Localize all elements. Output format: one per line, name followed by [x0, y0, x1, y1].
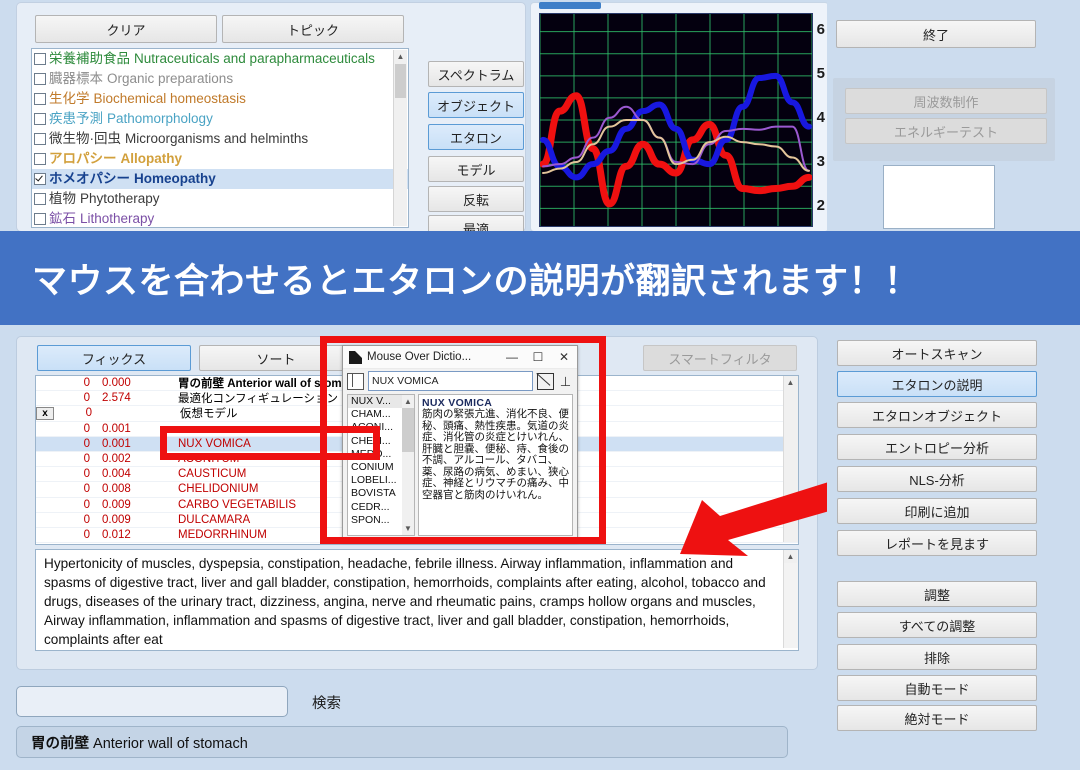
row-value: 0.001: [102, 423, 178, 435]
top-right-panel: 終了 周波数制作 エネルギーテスト: [827, 0, 1080, 232]
object-button[interactable]: オブジェクト: [428, 92, 524, 118]
dictionary-search-input[interactable]: NUX VOMICA: [368, 371, 533, 391]
description-scroll-up-icon[interactable]: ▲: [784, 550, 797, 563]
row-index: 0: [52, 468, 102, 480]
adjust-all-button[interactable]: すべての調整: [837, 612, 1037, 638]
row-value: 0.009: [102, 499, 178, 511]
dict-scroll-up-icon[interactable]: ▲: [402, 395, 414, 408]
clear-button[interactable]: クリア: [35, 15, 217, 43]
sort-button[interactable]: ソート: [199, 345, 353, 371]
description-text: Hypertonicity of muscles, dyspepsia, con…: [44, 554, 772, 649]
energy-test-button[interactable]: エネルギーテスト: [845, 118, 1047, 144]
exclude-button[interactable]: 排除: [837, 644, 1037, 670]
category-label-jp: 臓器標本: [49, 69, 103, 89]
category-item-4[interactable]: 微生物·回虫Microorganisms and helminths: [32, 129, 408, 149]
category-label-jp: 栄養補助食品: [49, 49, 130, 69]
invert-button[interactable]: 反転: [428, 186, 524, 212]
description-box[interactable]: Hypertonicity of muscles, dyspepsia, con…: [35, 549, 799, 651]
chart-svg: [540, 14, 812, 226]
search-label: 検索: [312, 692, 341, 713]
category-label-jp: 鉱石: [49, 209, 76, 228]
table-row[interactable]: 00.014BOVISTA: [36, 543, 798, 545]
maximize-icon[interactable]: ☐: [525, 347, 551, 368]
disabled-tools-group: 周波数制作 エネルギーテスト: [833, 78, 1055, 161]
smart-filter-button[interactable]: スマートフィルタ: [643, 345, 797, 371]
category-checkbox[interactable]: [34, 213, 46, 225]
row-marker[interactable]: x: [36, 407, 54, 420]
model-button[interactable]: モデル: [428, 156, 524, 182]
absolute-mode-button[interactable]: 絶対モード: [837, 705, 1037, 731]
category-label-jp: 微生物·回虫: [49, 129, 121, 149]
search-input[interactable]: [16, 686, 288, 717]
category-label-jp: アロパシー: [49, 149, 117, 169]
chart-ytick-4: 4: [809, 109, 825, 126]
spectrum-chart-panel: 23456: [530, 2, 829, 232]
row-index: 0: [52, 499, 102, 511]
category-label-en: Homeopathy: [134, 169, 216, 189]
split-view-icon[interactable]: [347, 373, 364, 390]
no-flag-icon[interactable]: [537, 373, 554, 390]
grid-scroll-up-icon[interactable]: ▲: [784, 376, 797, 389]
pin-icon[interactable]: ⊥: [558, 374, 573, 389]
row-index: 0: [52, 544, 102, 545]
category-item-1[interactable]: 臓器標本Organic preparations: [32, 69, 408, 89]
category-checkbox[interactable]: [34, 173, 46, 185]
row-value: 0.014: [102, 544, 178, 545]
category-label-jp: 疾患予測: [49, 109, 103, 129]
scroll-thumb[interactable]: [395, 64, 406, 98]
entropy-analysis-button[interactable]: エントロピー分析: [837, 434, 1037, 460]
category-checkbox[interactable]: [34, 73, 46, 85]
row-name: BOVISTA: [178, 544, 798, 545]
close-icon[interactable]: ✕: [551, 347, 577, 368]
status-bar-text: 胃の前壁 Anterior wall of stomach: [17, 732, 248, 753]
dictionary-toolbar: NUX VOMICA ⊥: [343, 369, 577, 393]
row-index: 0: [52, 514, 102, 526]
category-item-2[interactable]: 生化学Biochemical homeostasis: [32, 89, 408, 109]
dict-scroll-thumb[interactable]: [402, 408, 414, 452]
category-label-jp: 植物: [49, 189, 76, 209]
status-en: Anterior wall of stomach: [93, 736, 248, 752]
chart-ytick-2: 2: [809, 197, 825, 214]
category-label-en: Lithotherapy: [80, 209, 154, 228]
row-value: 0.001: [102, 438, 178, 450]
row-value: 0.004: [102, 468, 178, 480]
category-item-8[interactable]: 鉱石Lithotherapy: [32, 209, 408, 228]
definition-text: 筋肉の緊張亢進、消化不良、便秘、頭痛、熱性疾患。気道の炎症、消化管の炎症とけいれ…: [422, 409, 569, 501]
minimize-icon[interactable]: —: [499, 347, 525, 368]
row-value: 0.012: [102, 529, 178, 541]
category-label-en: Nutraceuticals and parapharmaceuticals: [134, 49, 375, 69]
row-value: 0.009: [102, 514, 178, 526]
fix-button[interactable]: フィックス: [37, 345, 191, 371]
nls-analysis-button[interactable]: NLS-分析: [837, 466, 1037, 492]
etalon-button[interactable]: エタロン: [428, 124, 524, 150]
auto-scan-button[interactable]: オートスキャン: [837, 340, 1037, 366]
status-jp: 胃の前壁: [31, 736, 89, 752]
dictionary-term-list[interactable]: NUX V...CHAM...ACONI...CHELI...MEDO...CO…: [347, 394, 415, 536]
dictionary-title-text: Mouse Over Dictio...: [367, 351, 499, 363]
auto-mode-button[interactable]: 自動モード: [837, 675, 1037, 701]
dictionary-app-icon: [349, 351, 362, 364]
preview-box: [883, 165, 995, 229]
category-item-0[interactable]: 栄養補助食品Nutraceuticals and parapharmaceuti…: [32, 49, 408, 69]
row-index: 0: [52, 483, 102, 495]
action-button-panel: オートスキャン エタロンの説明 エタロンオブジェクト エントロピー分析 NLS-…: [827, 332, 1080, 734]
category-list[interactable]: 栄養補助食品Nutraceuticals and parapharmaceuti…: [31, 48, 409, 228]
topic-button[interactable]: トピック: [222, 15, 404, 43]
category-item-5[interactable]: アロパシーAllopathy: [32, 149, 408, 169]
category-checkbox[interactable]: [34, 53, 46, 65]
category-item-6[interactable]: ホメオパシーHomeopathy: [32, 169, 408, 189]
mouse-over-dictionary-window[interactable]: Mouse Over Dictio... — ☐ ✕ NUX VOMICA ⊥ …: [342, 345, 578, 541]
category-label-en: Phytotherapy: [80, 189, 160, 209]
dictionary-title-bar[interactable]: Mouse Over Dictio... — ☐ ✕: [343, 346, 577, 369]
etalon-object-button[interactable]: エタロンオブジェクト: [837, 402, 1037, 428]
row-index: 0: [52, 423, 102, 435]
category-checkbox[interactable]: [34, 193, 46, 205]
category-item-7[interactable]: 植物Phytotherapy: [32, 189, 408, 209]
frequency-production-button[interactable]: 周波数制作: [845, 88, 1047, 114]
category-label-en: Microorganisms and helminths: [125, 129, 308, 149]
category-label-en: Allopathy: [121, 149, 183, 169]
category-checkbox[interactable]: [34, 153, 46, 165]
category-checkbox[interactable]: [34, 113, 46, 125]
chart-ytick-3: 3: [809, 153, 825, 170]
chart-ytick-5: 5: [809, 65, 825, 82]
row-index: 0: [52, 438, 102, 450]
description-scrollbar[interactable]: ▲: [783, 550, 798, 648]
grid-scrollbar[interactable]: ▲: [783, 376, 798, 542]
add-to-print-button[interactable]: 印刷に追加: [837, 498, 1037, 524]
dictionary-list-scrollbar[interactable]: ▲ ▼: [402, 395, 414, 535]
category-label-jp: ホメオパシー: [49, 169, 130, 189]
category-label-jp: 生化学: [49, 89, 90, 109]
dict-scroll-down-icon[interactable]: ▼: [402, 522, 414, 535]
category-label-en: Organic preparations: [107, 69, 233, 89]
category-checkbox[interactable]: [34, 133, 46, 145]
etalon-description-button[interactable]: エタロンの説明: [837, 371, 1037, 397]
row-index: 0: [54, 407, 104, 419]
status-bar: 胃の前壁 Anterior wall of stomach: [16, 726, 788, 758]
dictionary-definition-pane: NUX VOMICA 筋肉の緊張亢進、消化不良、便秘、頭痛、熱性疾患。気道の炎症…: [418, 394, 573, 536]
category-label-en: Pathomorphology: [107, 109, 213, 129]
row-index: 0: [52, 392, 102, 404]
row-value: 0.008: [102, 483, 178, 495]
scroll-up-icon[interactable]: ▲: [394, 50, 407, 63]
row-value: 0.002: [102, 453, 178, 465]
instruction-banner: マウスを合わせるとエタロンの説明が翻訳されます！！: [0, 231, 1080, 325]
category-label-en: Biochemical homeostasis: [94, 89, 246, 109]
spectrum-button[interactable]: スペクトラム: [428, 61, 524, 87]
chart-ytick-6: 6: [809, 21, 825, 38]
chart-plot-area: [539, 13, 813, 227]
adjust-button[interactable]: 調整: [837, 581, 1037, 607]
row-index: 0: [52, 377, 102, 389]
category-checkbox[interactable]: [34, 93, 46, 105]
category-item-3[interactable]: 疾患予測Pathomorphology: [32, 109, 408, 129]
row-value: 2.574: [102, 392, 178, 404]
view-report-button[interactable]: レポートを見ます: [837, 530, 1037, 556]
category-list-scrollbar[interactable]: ▲: [393, 50, 407, 226]
row-index: 0: [52, 453, 102, 465]
chart-tab-indicator[interactable]: [539, 2, 601, 9]
exit-button[interactable]: 終了: [836, 20, 1036, 48]
instruction-banner-text: マウスを合わせるとエタロンの説明が翻訳されます！！: [0, 253, 920, 304]
row-index: 0: [52, 529, 102, 541]
row-value: 0.000: [102, 377, 178, 389]
category-panel: クリア トピック 栄養補助食品Nutraceuticals and paraph…: [16, 2, 526, 232]
dictionary-content: NUX V...CHAM...ACONI...CHELI...MEDO...CO…: [347, 394, 573, 536]
